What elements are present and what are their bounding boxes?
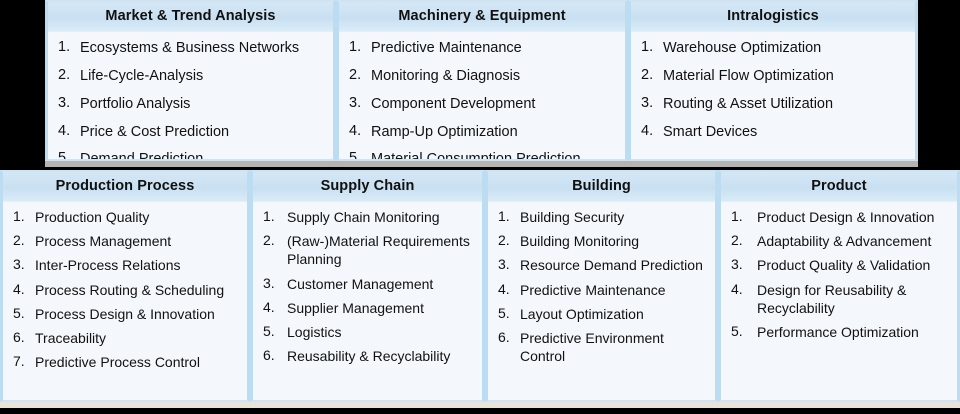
use-case-item[interactable]: 6.Predictive Environment Control xyxy=(494,329,709,365)
use-case-item[interactable]: 3.Resource Demand Prediction xyxy=(494,256,709,274)
use-case-number: 2. xyxy=(259,232,287,248)
use-case-label: (Raw-)Material Requirements Planning xyxy=(287,232,476,268)
use-case-label: Reusability & Recyclability xyxy=(287,347,476,365)
use-case-item[interactable]: 4.Ramp-Up Optimization xyxy=(345,123,619,142)
use-case-number: 3. xyxy=(259,275,287,291)
category-list-supply-chain: 1.Supply Chain Monitoring2.(Raw-)Materia… xyxy=(253,202,482,400)
category-title-supply-chain: Supply Chain xyxy=(253,172,482,202)
use-case-list: 1.Supply Chain Monitoring2.(Raw-)Materia… xyxy=(259,208,476,365)
use-case-item[interactable]: 6.Reusability & Recyclability xyxy=(259,347,476,365)
use-case-item[interactable]: 2.Process Management xyxy=(9,232,241,250)
category-title-market-trend-analysis: Market & Trend Analysis xyxy=(48,2,333,32)
use-case-number: 1. xyxy=(9,208,35,224)
use-case-item[interactable]: 4.Process Routing & Scheduling xyxy=(9,281,241,299)
use-case-label: Predictive Environment Control xyxy=(520,329,709,365)
use-case-label: Process Design & Innovation xyxy=(35,305,241,323)
use-case-label: Supply Chain Monitoring xyxy=(287,208,476,226)
diagram-canvas: Market & Trend Analysis 1.Ecosystems & B… xyxy=(0,0,960,414)
use-case-number: 4. xyxy=(345,123,371,139)
use-case-item[interactable]: 1.Ecosystems & Business Networks xyxy=(54,39,327,58)
use-case-number: 1. xyxy=(637,39,663,55)
use-case-label: Building Monitoring xyxy=(520,232,709,250)
category-card-product[interactable]: Product 1.Product Design & Innovation2.A… xyxy=(718,170,960,402)
use-case-item[interactable]: 3.Portfolio Analysis xyxy=(54,95,327,114)
use-case-list: 1.Product Design & Innovation2.Adaptabil… xyxy=(727,208,951,341)
use-case-number: 2. xyxy=(727,232,757,248)
use-case-label: Predictive Process Control xyxy=(35,353,241,371)
category-card-building[interactable]: Building 1.Building Security2.Building M… xyxy=(485,170,718,402)
use-case-number: 1. xyxy=(494,208,520,224)
use-case-label: Adaptability & Advancement xyxy=(757,232,951,250)
use-case-number: 6. xyxy=(9,329,35,345)
use-case-number: 6. xyxy=(259,347,287,363)
use-case-list: 1.Ecosystems & Business Networks2.Life-C… xyxy=(54,39,327,161)
use-case-number: 2. xyxy=(494,232,520,248)
use-case-number: 3. xyxy=(345,95,371,111)
use-case-number: 5. xyxy=(9,305,35,321)
use-case-list: 1.Building Security2.Building Monitoring… xyxy=(494,208,709,365)
use-case-number: 5. xyxy=(54,150,80,161)
use-case-number: 4. xyxy=(9,281,35,297)
use-case-label: Process Routing & Scheduling xyxy=(35,281,241,299)
category-card-market-trend-analysis[interactable]: Market & Trend Analysis 1.Ecosystems & B… xyxy=(45,0,336,161)
use-case-label: Ecosystems & Business Networks xyxy=(80,39,327,58)
use-case-number: 6. xyxy=(494,329,520,345)
use-case-number: 5. xyxy=(259,323,287,339)
use-case-item[interactable]: 1.Building Security xyxy=(494,208,709,226)
use-case-item[interactable]: 2.Material Flow Optimization xyxy=(637,67,909,86)
use-case-item[interactable]: 6.Traceability xyxy=(9,329,241,347)
use-case-number: 5. xyxy=(494,305,520,321)
use-case-item[interactable]: 3.Product Quality & Validation xyxy=(727,256,951,274)
category-title-machinery-equipment: Machinery & Equipment xyxy=(339,2,625,32)
category-row-bottom: Production Process 1.Production Quality2… xyxy=(0,170,960,408)
use-case-item[interactable]: 4.Supplier Management xyxy=(259,299,476,317)
use-case-item[interactable]: 4.Predictive Maintenance xyxy=(494,281,709,299)
use-case-label: Layout Optimization xyxy=(520,305,709,323)
use-case-item[interactable]: 2.Building Monitoring xyxy=(494,232,709,250)
use-case-label: Performance Optimization xyxy=(757,323,951,341)
category-list-intralogistics: 1.Warehouse Optimization2.Material Flow … xyxy=(631,32,915,159)
category-list-machinery-equipment: 1.Predictive Maintenance2.Monitoring & D… xyxy=(339,32,625,161)
use-case-item[interactable]: 1.Predictive Maintenance xyxy=(345,39,619,58)
use-case-label: Price & Cost Prediction xyxy=(80,123,327,142)
use-case-label: Production Quality xyxy=(35,208,241,226)
use-case-number: 4. xyxy=(727,281,757,297)
use-case-item[interactable]: 7.Predictive Process Control xyxy=(9,353,241,371)
use-case-item[interactable]: 5.Logistics xyxy=(259,323,476,341)
use-case-item[interactable]: 1.Production Quality xyxy=(9,208,241,226)
use-case-number: 3. xyxy=(9,256,35,272)
use-case-label: Monitoring & Diagnosis xyxy=(371,67,619,86)
category-card-intralogistics[interactable]: Intralogistics 1.Warehouse Optimization2… xyxy=(628,0,918,161)
use-case-item[interactable]: 1.Supply Chain Monitoring xyxy=(259,208,476,226)
use-case-label: Life-Cycle-Analysis xyxy=(80,67,327,86)
category-card-production-process[interactable]: Production Process 1.Production Quality2… xyxy=(0,170,250,402)
use-case-number: 7. xyxy=(9,353,35,369)
use-case-label: Material Flow Optimization xyxy=(663,67,909,86)
use-case-number: 3. xyxy=(494,256,520,272)
use-case-number: 5. xyxy=(727,323,757,339)
use-case-number: 4. xyxy=(494,281,520,297)
use-case-item[interactable]: 2.(Raw-)Material Requirements Planning xyxy=(259,232,476,268)
use-case-label: Design for Reusability & Recyclability xyxy=(757,281,951,317)
category-list-product: 1.Product Design & Innovation2.Adaptabil… xyxy=(721,202,957,400)
use-case-label: Customer Management xyxy=(287,275,476,293)
use-case-item[interactable]: 4.Smart Devices xyxy=(637,123,909,142)
use-case-item[interactable]: 1.Warehouse Optimization xyxy=(637,39,909,58)
use-case-number: 1. xyxy=(259,208,287,224)
use-case-label: Building Security xyxy=(520,208,709,226)
use-case-item[interactable]: 1.Product Design & Innovation xyxy=(727,208,951,226)
category-row-top: Market & Trend Analysis 1.Ecosystems & B… xyxy=(45,0,918,167)
use-case-item[interactable]: 2.Adaptability & Advancement xyxy=(727,232,951,250)
use-case-label: Warehouse Optimization xyxy=(663,39,909,58)
use-case-label: Demand Prediction xyxy=(80,150,327,161)
use-case-label: Predictive Maintenance xyxy=(371,39,619,58)
use-case-item[interactable]: 5.Material Consumption Prediction xyxy=(345,150,619,161)
use-case-item[interactable]: 3.Customer Management xyxy=(259,275,476,293)
use-case-list: 1.Predictive Maintenance2.Monitoring & D… xyxy=(345,39,619,161)
use-case-number: 3. xyxy=(54,95,80,111)
use-case-label: Supplier Management xyxy=(287,299,476,317)
use-case-item[interactable]: 3.Component Development xyxy=(345,95,619,114)
use-case-label: Logistics xyxy=(287,323,476,341)
use-case-item[interactable]: 5.Layout Optimization xyxy=(494,305,709,323)
use-case-label: Inter-Process Relations xyxy=(35,256,241,274)
use-case-list: 1.Production Quality2.Process Management… xyxy=(9,208,241,371)
use-case-item[interactable]: 5.Performance Optimization xyxy=(727,323,951,341)
use-case-label: Smart Devices xyxy=(663,123,909,142)
use-case-label: Resource Demand Prediction xyxy=(520,256,709,274)
use-case-number: 5. xyxy=(345,150,371,161)
category-title-intralogistics: Intralogistics xyxy=(631,2,915,32)
use-case-item[interactable]: 5.Demand Prediction xyxy=(54,150,327,161)
use-case-number: 1. xyxy=(54,39,80,55)
use-case-label: Process Management xyxy=(35,232,241,250)
use-case-label: Material Consumption Prediction xyxy=(371,150,619,161)
use-case-item[interactable]: 4.Design for Reusability & Recyclability xyxy=(727,281,951,317)
category-title-production-process: Production Process xyxy=(3,172,247,202)
use-case-number: 4. xyxy=(637,123,663,139)
use-case-label: Predictive Maintenance xyxy=(520,281,709,299)
use-case-number: 1. xyxy=(727,208,757,224)
use-case-label: Routing & Asset Utilization xyxy=(663,95,909,114)
use-case-number: 2. xyxy=(9,232,35,248)
category-card-supply-chain[interactable]: Supply Chain 1.Supply Chain Monitoring2.… xyxy=(250,170,485,402)
category-card-machinery-equipment[interactable]: Machinery & Equipment 1.Predictive Maint… xyxy=(336,0,628,161)
category-list-production-process: 1.Production Quality2.Process Management… xyxy=(3,202,247,400)
use-case-list: 1.Warehouse Optimization2.Material Flow … xyxy=(637,39,909,141)
use-case-item[interactable]: 2.Monitoring & Diagnosis xyxy=(345,67,619,86)
category-list-building: 1.Building Security2.Building Monitoring… xyxy=(488,202,715,400)
use-case-number: 2. xyxy=(54,67,80,83)
category-title-product: Product xyxy=(721,172,957,202)
use-case-number: 3. xyxy=(727,256,757,272)
use-case-item[interactable]: 3.Routing & Asset Utilization xyxy=(637,95,909,114)
use-case-label: Component Development xyxy=(371,95,619,114)
use-case-label: Ramp-Up Optimization xyxy=(371,123,619,142)
use-case-label: Product Design & Innovation xyxy=(757,208,951,226)
use-case-number: 2. xyxy=(345,67,371,83)
use-case-label: Traceability xyxy=(35,329,241,347)
use-case-number: 3. xyxy=(637,95,663,111)
use-case-label: Portfolio Analysis xyxy=(80,95,327,114)
use-case-item[interactable]: 2.Life-Cycle-Analysis xyxy=(54,67,327,86)
use-case-label: Product Quality & Validation xyxy=(757,256,951,274)
use-case-item[interactable]: 4.Price & Cost Prediction xyxy=(54,123,327,142)
category-list-market-trend-analysis: 1.Ecosystems & Business Networks2.Life-C… xyxy=(48,32,333,161)
category-title-building: Building xyxy=(488,172,715,202)
use-case-number: 4. xyxy=(259,299,287,315)
use-case-item[interactable]: 3.Inter-Process Relations xyxy=(9,256,241,274)
use-case-number: 1. xyxy=(345,39,371,55)
use-case-number: 4. xyxy=(54,123,80,139)
use-case-item[interactable]: 5.Process Design & Innovation xyxy=(9,305,241,323)
use-case-number: 2. xyxy=(637,67,663,83)
